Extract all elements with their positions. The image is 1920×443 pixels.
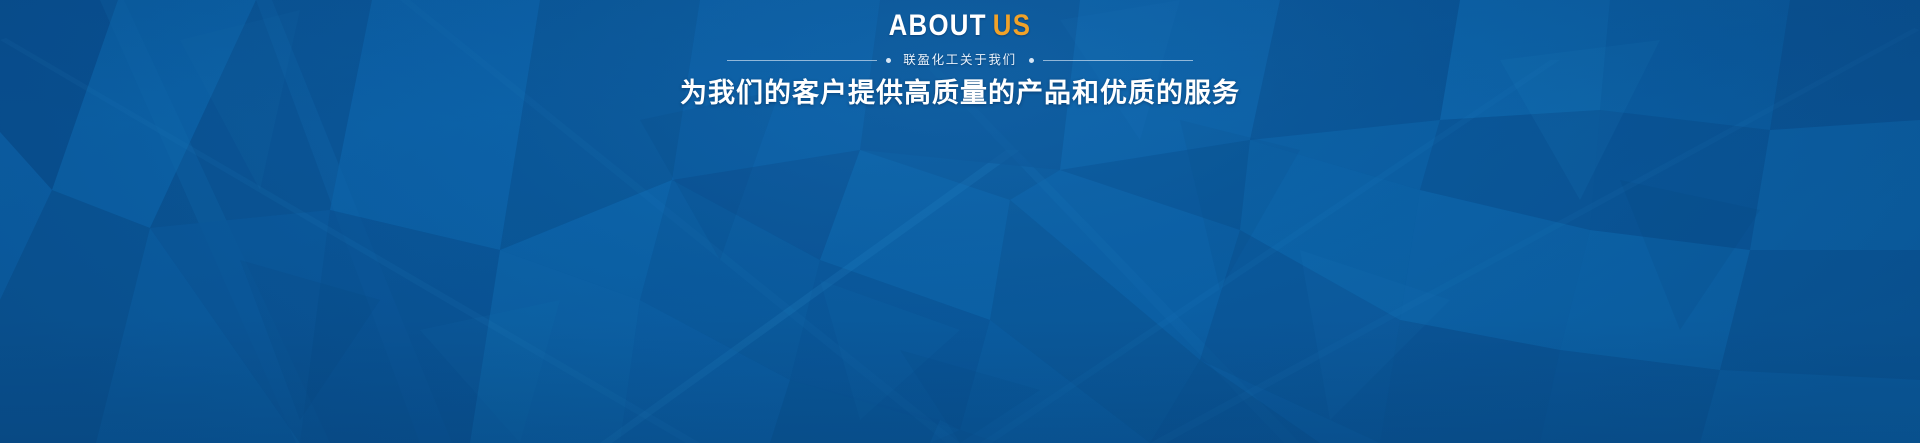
banner-content: ABOUTUS 联盈化工关于我们 为我们的客户提供高质量的产品和优质的服务 — [0, 0, 1920, 109]
title-word-about: ABOUT — [889, 9, 987, 42]
divider-line-left — [727, 60, 877, 61]
page-title-english: ABOUTUS — [889, 11, 1032, 41]
title-word-us: US — [993, 9, 1031, 42]
divider-dot-left — [886, 58, 891, 63]
divider-dot-right — [1029, 58, 1034, 63]
about-us-banner: ABOUTUS 联盈化工关于我们 为我们的客户提供高质量的产品和优质的服务 — [0, 0, 1920, 443]
page-subtitle-chinese: 联盈化工关于我们 — [900, 54, 1020, 67]
subtitle-divider: 联盈化工关于我们 — [0, 54, 1920, 67]
page-headline: 为我们的客户提供高质量的产品和优质的服务 — [680, 78, 1240, 110]
divider-line-right — [1043, 60, 1193, 61]
